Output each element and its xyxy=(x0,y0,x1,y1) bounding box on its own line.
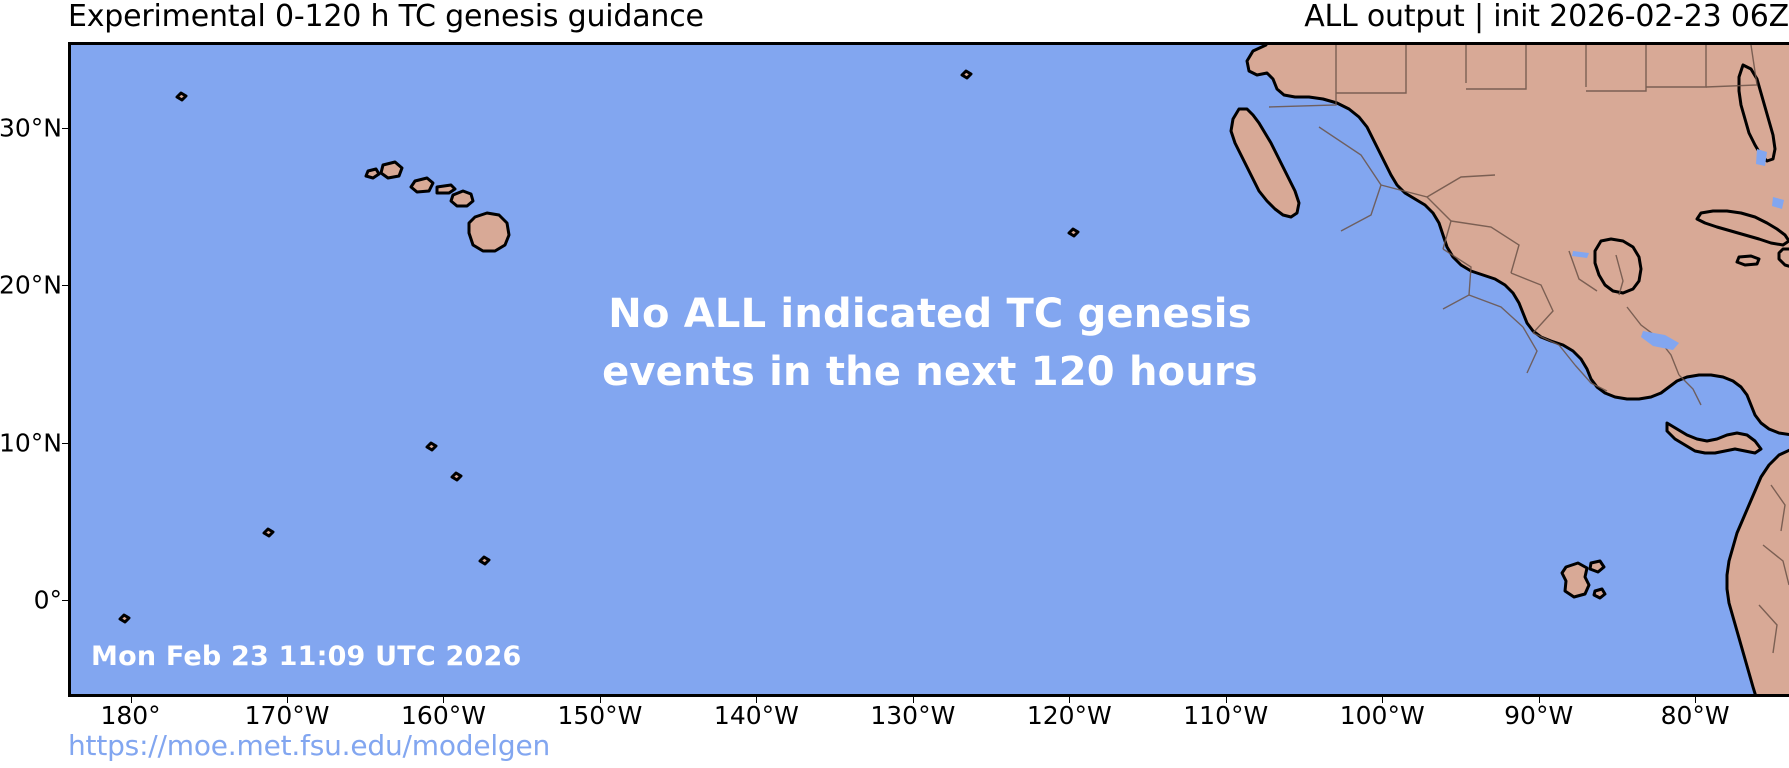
south-america-landmass xyxy=(1727,449,1789,697)
x-axis-tick-7: 110°W xyxy=(1183,701,1268,730)
jamaica-island xyxy=(1737,256,1759,265)
landmasses xyxy=(120,45,1789,697)
hawaii-oahu-island xyxy=(411,178,433,192)
page-title-left: Experimental 0-120 h TC genesis guidance xyxy=(68,0,704,34)
x-axis-tickmark-7 xyxy=(1226,697,1227,703)
y-axis-tick-1: 20°N xyxy=(0,271,62,300)
panama-isthmus xyxy=(1667,423,1761,453)
hawaii-maui-island xyxy=(451,191,473,206)
generation-timestamp: Mon Feb 23 11:09 UTC 2026 xyxy=(91,641,521,672)
tc-genesis-guidance-page: Experimental 0-120 h TC genesis guidance… xyxy=(0,0,1789,768)
x-axis-tickmark-10 xyxy=(1695,697,1696,703)
y-axis-tick-2: 10°N xyxy=(0,428,62,457)
x-axis-tick-1: 170°W xyxy=(245,701,330,730)
x-axis-tick-6: 120°W xyxy=(1027,701,1112,730)
y-axis-tick-3: 0° xyxy=(34,585,62,614)
world-map-svg xyxy=(71,45,1789,697)
x-axis-tick-4: 140°W xyxy=(714,701,799,730)
source-url-link[interactable]: https://moe.met.fsu.edu/modelgen xyxy=(68,729,550,762)
map-plot-area[interactable]: No ALL indicated TC genesis events in th… xyxy=(68,42,1789,697)
x-axis-tick-5: 130°W xyxy=(870,701,955,730)
x-axis-tick-8: 100°W xyxy=(1340,701,1425,730)
x-axis-tickmark-1 xyxy=(287,697,288,703)
x-axis-tickmark-6 xyxy=(1069,697,1070,703)
small-pacific-islands xyxy=(120,71,1078,622)
x-axis-tickmark-2 xyxy=(443,697,444,703)
x-axis-tickmark-5 xyxy=(913,697,914,703)
x-axis-tick-10: 80°W xyxy=(1661,701,1730,730)
x-axis-tickmark-4 xyxy=(756,697,757,703)
hawaii-molokai-island xyxy=(437,185,455,193)
y-axis-tickmark-3 xyxy=(62,600,68,601)
baja-california-peninsula xyxy=(1231,109,1299,217)
y-axis-tickmark-0 xyxy=(62,128,68,129)
x-axis-tick-0: 180° xyxy=(100,701,160,730)
x-axis-tick-2: 160°W xyxy=(401,701,486,730)
x-axis-tickmark-9 xyxy=(1539,697,1540,703)
y-axis-tickmark-1 xyxy=(62,285,68,286)
x-axis-tick-3: 150°W xyxy=(557,701,642,730)
y-axis-tickmark-2 xyxy=(62,443,68,444)
galapagos-islands xyxy=(1562,561,1605,598)
hawaii-niihau-island xyxy=(366,169,379,178)
hawaii-big-island xyxy=(469,213,509,251)
hawaii-kauai-island xyxy=(381,162,402,178)
x-axis-tick-9: 90°W xyxy=(1504,701,1573,730)
y-axis-tick-0: 30°N xyxy=(0,114,62,143)
x-axis-tickmark-0 xyxy=(131,697,132,703)
usa-mexico-landmass xyxy=(1247,45,1789,435)
x-axis-tickmark-8 xyxy=(1382,697,1383,703)
page-title-right: ALL output | init 2026-02-23 06Z xyxy=(1304,0,1789,34)
x-axis-tickmark-3 xyxy=(600,697,601,703)
